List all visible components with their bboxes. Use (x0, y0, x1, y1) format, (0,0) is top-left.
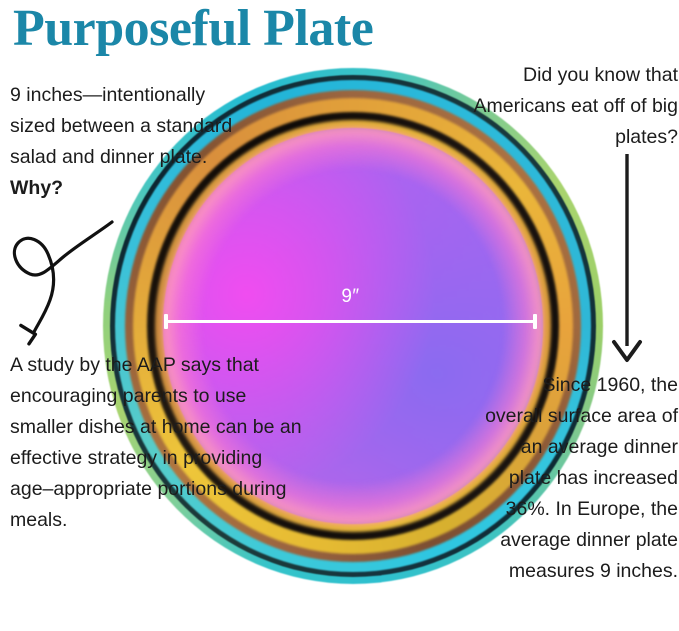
annotation-bottom-right: Since 1960, the overall surface area of … (480, 370, 678, 587)
annotation-bottom-left: A study by the AAP says that encouraging… (10, 350, 310, 536)
annotation-top-left-emphasis: Why? (10, 177, 63, 199)
annotation-top-right: Did you know that Americans eat off of b… (463, 60, 678, 153)
annotation-top-left-text: 9 inches—intentionally sized between a s… (10, 84, 232, 168)
curved-arrow-icon (0, 212, 130, 362)
measurement-cap-right (533, 314, 537, 329)
measurement-bar (164, 318, 537, 325)
measurement-cap-left (164, 314, 168, 329)
measurement-label: 9″ (164, 286, 537, 308)
measurement-bar-line (164, 320, 537, 323)
annotation-top-left: 9 inches—intentionally sized between a s… (10, 80, 248, 204)
page-title: Purposeful Plate (13, 0, 373, 60)
straight-arrow-icon (600, 150, 656, 368)
